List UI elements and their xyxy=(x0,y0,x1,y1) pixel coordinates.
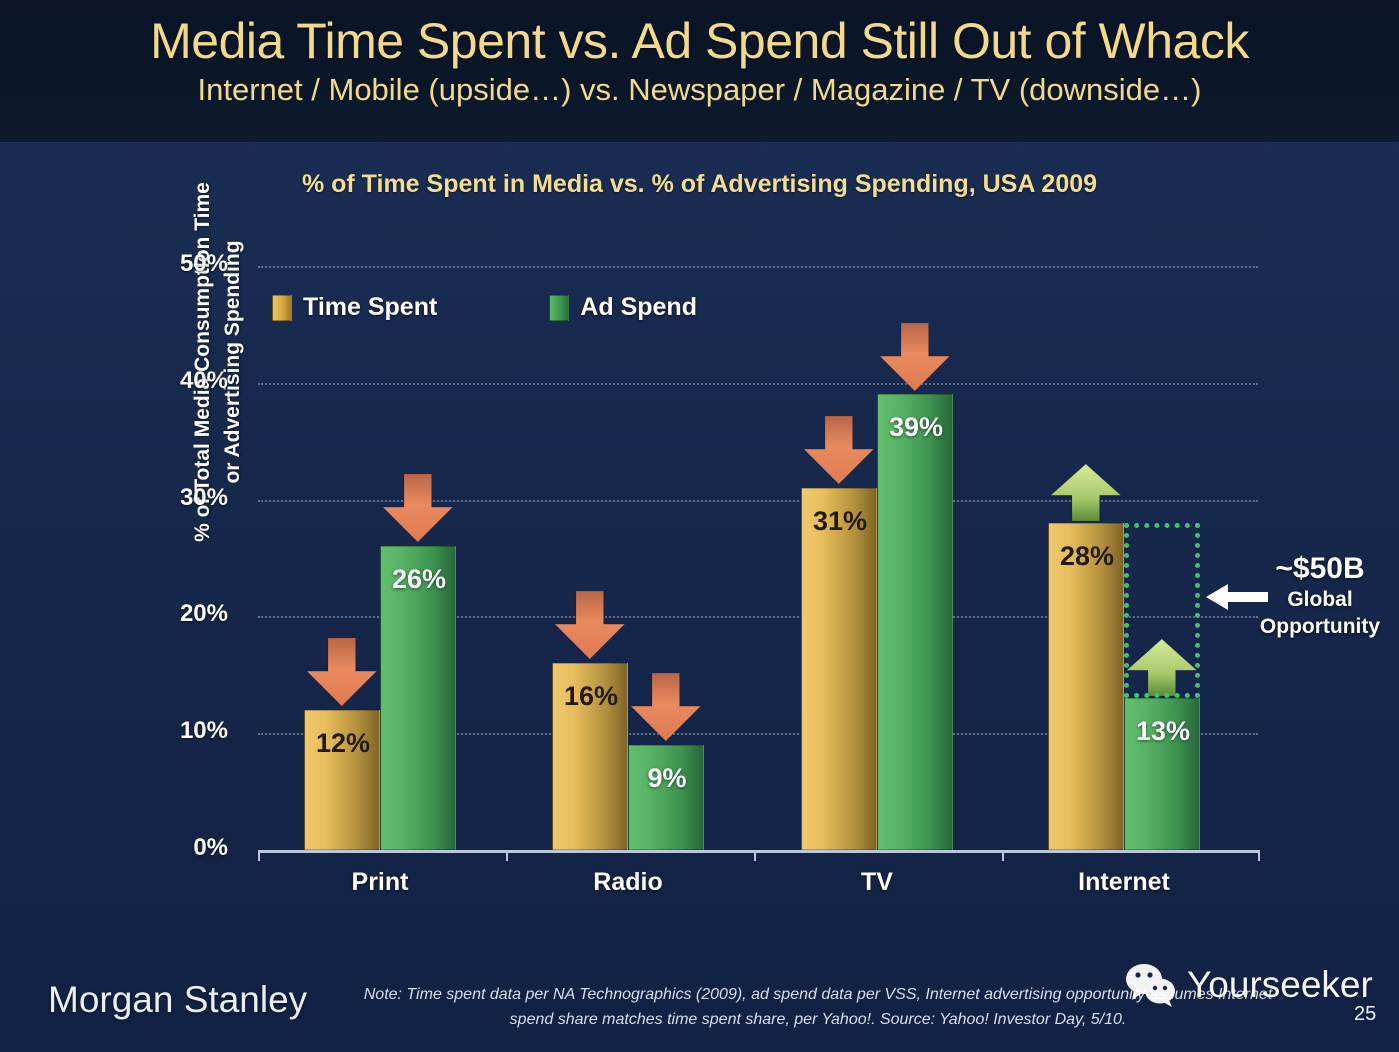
y-tick-label: 30% xyxy=(138,484,228,512)
x-axis-tick xyxy=(258,850,260,861)
gridline-50% xyxy=(258,266,1258,268)
legend-label-time-spent: Time Spent xyxy=(303,293,437,322)
category-label-radio: Radio xyxy=(528,868,728,897)
watermark: Yourseeker xyxy=(1124,962,1373,1008)
opportunity-callout: ~$50B Global Opportunity xyxy=(1244,552,1396,640)
y-tick-label: 50% xyxy=(138,250,228,278)
legend-swatch-green xyxy=(549,295,569,321)
wechat-icon xyxy=(1124,962,1180,1008)
y-tick-label: 0% xyxy=(138,834,228,862)
up-arrow-icon xyxy=(1049,464,1123,523)
x-axis-tick xyxy=(506,850,508,861)
x-axis-line xyxy=(258,850,1258,853)
watermark-text: Yourseeker xyxy=(1187,964,1373,1006)
bar-radio-ad-spend[interactable]: 9% xyxy=(628,745,704,850)
x-axis-tick xyxy=(1258,850,1260,861)
bar-tv-ad-spend[interactable]: 39% xyxy=(877,394,953,850)
callout-line1: Global xyxy=(1244,586,1396,613)
down-arrow-icon xyxy=(878,323,952,393)
bar-value-label: 28% xyxy=(1049,541,1125,572)
bar-value-label: 13% xyxy=(1125,716,1201,747)
x-axis-tick xyxy=(754,850,756,861)
slide: Media Time Spent vs. Ad Spend Still Out … xyxy=(0,0,1399,1052)
category-label-print: Print xyxy=(280,868,480,897)
legend-swatch-gold xyxy=(272,295,292,321)
y-tick-label: 40% xyxy=(138,367,228,395)
bar-print-ad-spend[interactable]: 26% xyxy=(380,546,456,850)
y-tick-label: 20% xyxy=(138,600,228,628)
bar-print-time-spent[interactable]: 12% xyxy=(304,710,380,850)
gridline-40% xyxy=(258,383,1258,385)
category-label-tv: TV xyxy=(777,868,977,897)
footnote-line2: spend share matches time spent share, pe… xyxy=(318,1007,1318,1032)
bar-value-label: 12% xyxy=(305,728,381,759)
bar-internet-ad-spend[interactable]: 13% xyxy=(1124,698,1200,850)
bar-value-label: 26% xyxy=(381,564,457,595)
plot-area: 12%26%16%9%31%39%28%13% xyxy=(258,266,1258,850)
down-arrow-icon xyxy=(802,416,876,486)
category-label-internet: Internet xyxy=(1024,868,1224,897)
legend-label-ad-spend: Ad Spend xyxy=(580,293,697,322)
bar-radio-time-spent[interactable]: 16% xyxy=(552,663,628,850)
bar-value-label: 39% xyxy=(878,412,954,443)
callout-amount: ~$50B xyxy=(1244,552,1396,586)
x-axis-tick xyxy=(1002,850,1004,861)
legend-item-time-spent[interactable]: Time Spent xyxy=(272,293,437,322)
bar-tv-time-spent[interactable]: 31% xyxy=(801,488,877,850)
opportunity-box xyxy=(1124,523,1200,698)
down-arrow-icon xyxy=(553,591,627,661)
bar-value-label: 16% xyxy=(553,681,629,712)
bar-value-label: 31% xyxy=(802,506,878,537)
morgan-stanley-logo: Morgan Stanley xyxy=(48,979,307,1021)
bar-value-label: 9% xyxy=(629,763,705,794)
legend-item-ad-spend[interactable]: Ad Spend xyxy=(549,293,697,322)
chart-legend: Time Spent Ad Spend xyxy=(272,293,809,322)
down-arrow-icon xyxy=(629,673,703,743)
bar-internet-time-spent[interactable]: 28% xyxy=(1048,523,1124,850)
down-arrow-icon xyxy=(381,474,455,544)
y-tick-label: 10% xyxy=(138,717,228,745)
y-axis-title: % of Total Media Consumption Time or Adv… xyxy=(188,102,252,622)
down-arrow-icon xyxy=(305,638,379,708)
page-title: Media Time Spent vs. Ad Spend Still Out … xyxy=(0,0,1399,70)
callout-line2: Opportunity xyxy=(1244,613,1396,640)
